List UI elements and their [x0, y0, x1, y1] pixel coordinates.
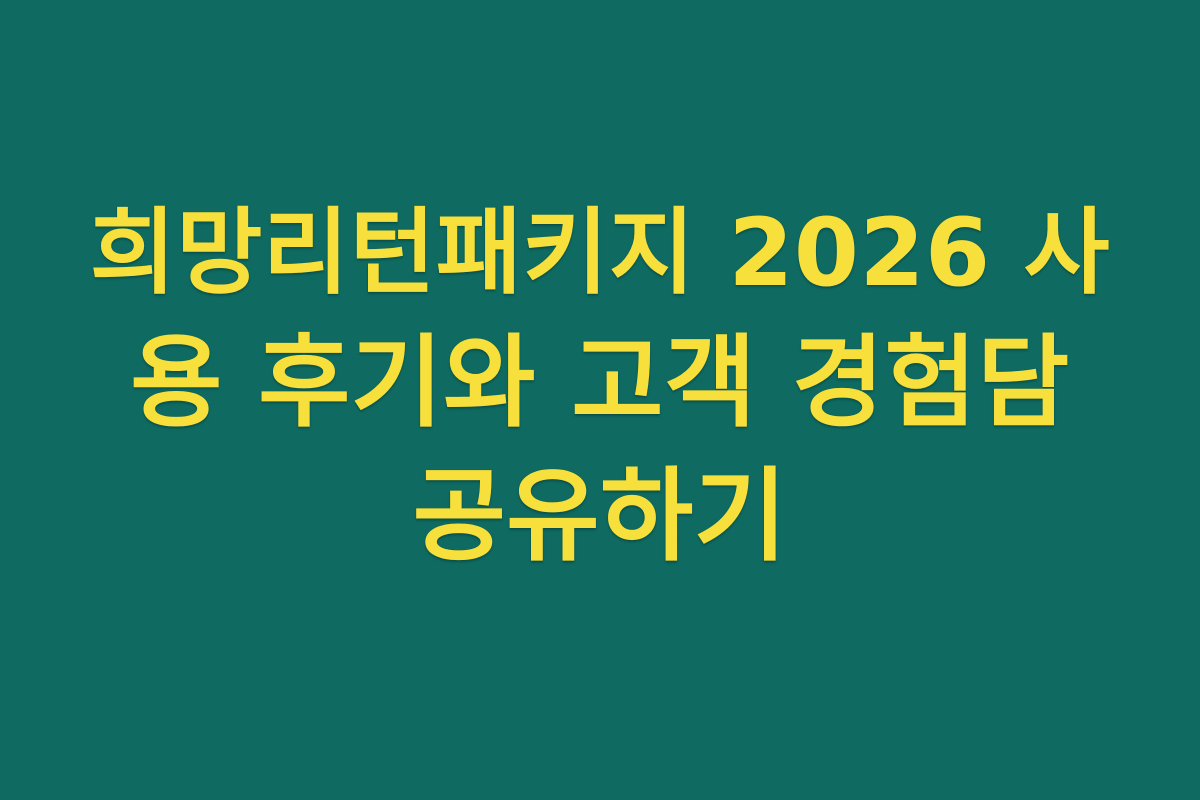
headline-line-2: 용 후기와 고객 경험담	[130, 316, 1070, 449]
headline-block: 희망리턴패키지 2026 사 용 후기와 고객 경험담 공유하기	[70, 192, 1130, 584]
headline-line-3: 공유하기	[413, 449, 788, 584]
banner-canvas: 희망리턴패키지 2026 사 용 후기와 고객 경험담 공유하기	[0, 0, 1200, 800]
headline-line-1: 희망리턴패키지 2026 사	[90, 192, 1110, 316]
